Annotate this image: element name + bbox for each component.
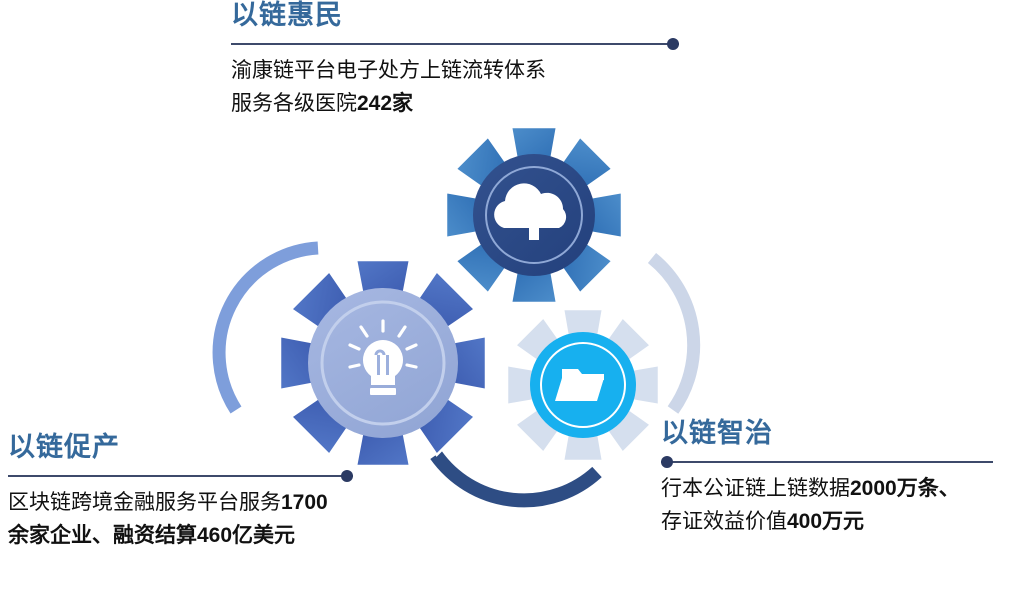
callout-health-line-2-highlight: 242家 <box>357 92 413 115</box>
callout-health-line-2: 服务各级医院242家 <box>231 88 679 121</box>
infographic-root: 以链惠民 渝康链平台电子处方上链流转体系 服务各级医院242家 以链促产 区块链… <box>0 0 1024 605</box>
callout-governance-line-1-prefix: 行本公证链上链数据 <box>661 477 850 500</box>
folder-icon <box>555 369 604 401</box>
arc-right-decoration <box>652 258 694 410</box>
gear-folder-body <box>530 332 636 438</box>
callout-health-line-1: 渝康链平台电子处方上链流转体系 <box>231 55 679 88</box>
lightbulb-icon <box>350 321 416 395</box>
callout-industry-rule <box>8 469 353 483</box>
gear-folder <box>507 309 659 461</box>
rule-line <box>231 43 679 45</box>
arc-bottom-decoration <box>436 455 597 500</box>
arc-left-decoration <box>219 248 318 410</box>
callout-industry: 以链促产 区块链跨境金融服务平台服务1700 余家企业、融资结算460亿美元 <box>8 432 353 552</box>
callout-industry-line-1-highlight: 1700 <box>281 491 328 514</box>
callout-industry-line-2: 余家企业、融资结算460亿美元 <box>8 520 353 553</box>
callout-governance-line-2: 存证效益价值400万元 <box>661 506 993 539</box>
callout-industry-title: 以链促产 <box>8 432 353 463</box>
callout-governance: 以链智治 行本公证链上链数据2000万条、 存证效益价值400万元 <box>661 418 993 538</box>
rule-dot <box>341 470 353 482</box>
callout-industry-body: 区块链跨境金融服务平台服务1700 余家企业、融资结算460亿美元 <box>8 487 353 552</box>
callout-governance-line-1-highlight: 2000万条、 <box>850 477 960 500</box>
callout-governance-line-1: 行本公证链上链数据2000万条、 <box>661 473 993 506</box>
callout-governance-rule <box>661 455 993 469</box>
rule-line <box>661 461 993 463</box>
cloud-upload-icon <box>494 183 566 240</box>
callout-industry-line-1: 区块链跨境金融服务平台服务1700 <box>8 487 353 520</box>
gear-folder-teeth <box>507 309 659 461</box>
callout-health-rule <box>231 37 679 51</box>
callout-health-body: 渝康链平台电子处方上链流转体系 服务各级医院242家 <box>231 55 679 120</box>
rule-line <box>8 475 353 477</box>
callout-health-line-2-prefix: 服务各级医院 <box>231 92 357 115</box>
gear-cloud-teeth <box>446 127 622 303</box>
callout-health-title: 以链惠民 <box>231 0 679 31</box>
rule-dot <box>661 456 673 468</box>
callout-industry-line-1-prefix: 区块链跨境金融服务平台服务 <box>8 491 281 514</box>
callout-governance-line-2-prefix: 存证效益价值 <box>661 510 787 533</box>
rule-dot <box>667 38 679 50</box>
callout-governance-line-2-highlight: 400万元 <box>787 510 864 533</box>
callout-governance-body: 行本公证链上链数据2000万条、 存证效益价值400万元 <box>661 473 993 538</box>
callout-health: 以链惠民 渝康链平台电子处方上链流转体系 服务各级医院242家 <box>231 0 679 120</box>
callout-governance-title: 以链智治 <box>661 418 993 449</box>
gear-cloud <box>446 127 622 303</box>
